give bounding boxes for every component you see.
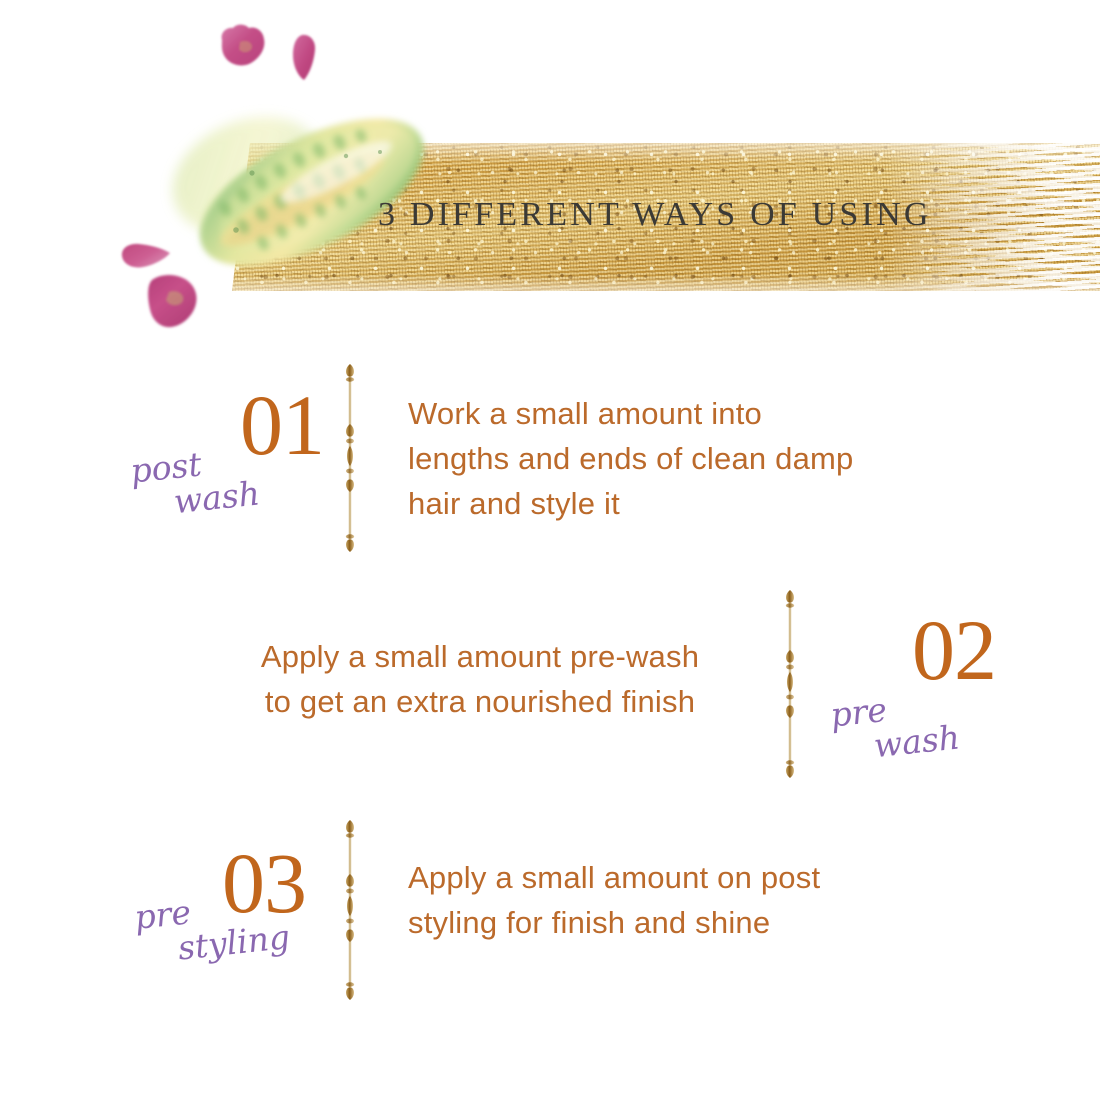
bead-divider-02 <box>778 588 802 785</box>
step-body-03: Apply a small amount on post styling for… <box>408 856 968 946</box>
bead-divider-03 <box>338 818 362 1007</box>
petal-svg <box>286 32 322 84</box>
step-label-03: pre styling <box>133 885 292 969</box>
step-label-01: post wash <box>129 442 262 523</box>
header-banner-area: 3 DIFFERENT WAYS OF USING <box>0 0 1100 350</box>
bead-divider-01 <box>338 362 362 559</box>
petal-svg <box>138 272 208 332</box>
step-body-02-line1: Apply a small amount pre-wash <box>210 635 750 680</box>
rose-petal-top-right <box>286 32 322 84</box>
step-body-01-line1: Work a small amount into <box>408 392 968 437</box>
rose-petal-left-lower <box>138 272 208 332</box>
bead-divider-svg <box>338 818 362 1002</box>
step-body-01-line3: hair and style it <box>408 482 968 527</box>
step-body-02-line2: to get an extra nourished finish <box>210 680 750 725</box>
infographic-page: 3 DIFFERENT WAYS OF USING 01 post wash <box>0 0 1100 1100</box>
bead-divider-svg <box>778 588 802 780</box>
step-body-03-line1: Apply a small amount on post <box>408 856 968 901</box>
step-number-02: 02 <box>912 607 996 693</box>
rose-petal-left-upper <box>118 238 174 274</box>
step-body-02: Apply a small amount pre-wash to get an … <box>210 635 750 725</box>
rose-petal-top-left <box>216 22 276 70</box>
step-body-01: Work a small amount into lengths and end… <box>408 392 968 527</box>
bead-divider-svg <box>338 362 362 554</box>
petal-svg <box>216 22 276 70</box>
petal-svg <box>118 238 174 274</box>
page-title: 3 DIFFERENT WAYS OF USING <box>378 196 1018 234</box>
step-body-01-line2: lengths and ends of clean damp <box>408 437 968 482</box>
step-body-03-line2: styling for finish and shine <box>408 901 968 946</box>
step-label-02: pre wash <box>829 686 962 767</box>
